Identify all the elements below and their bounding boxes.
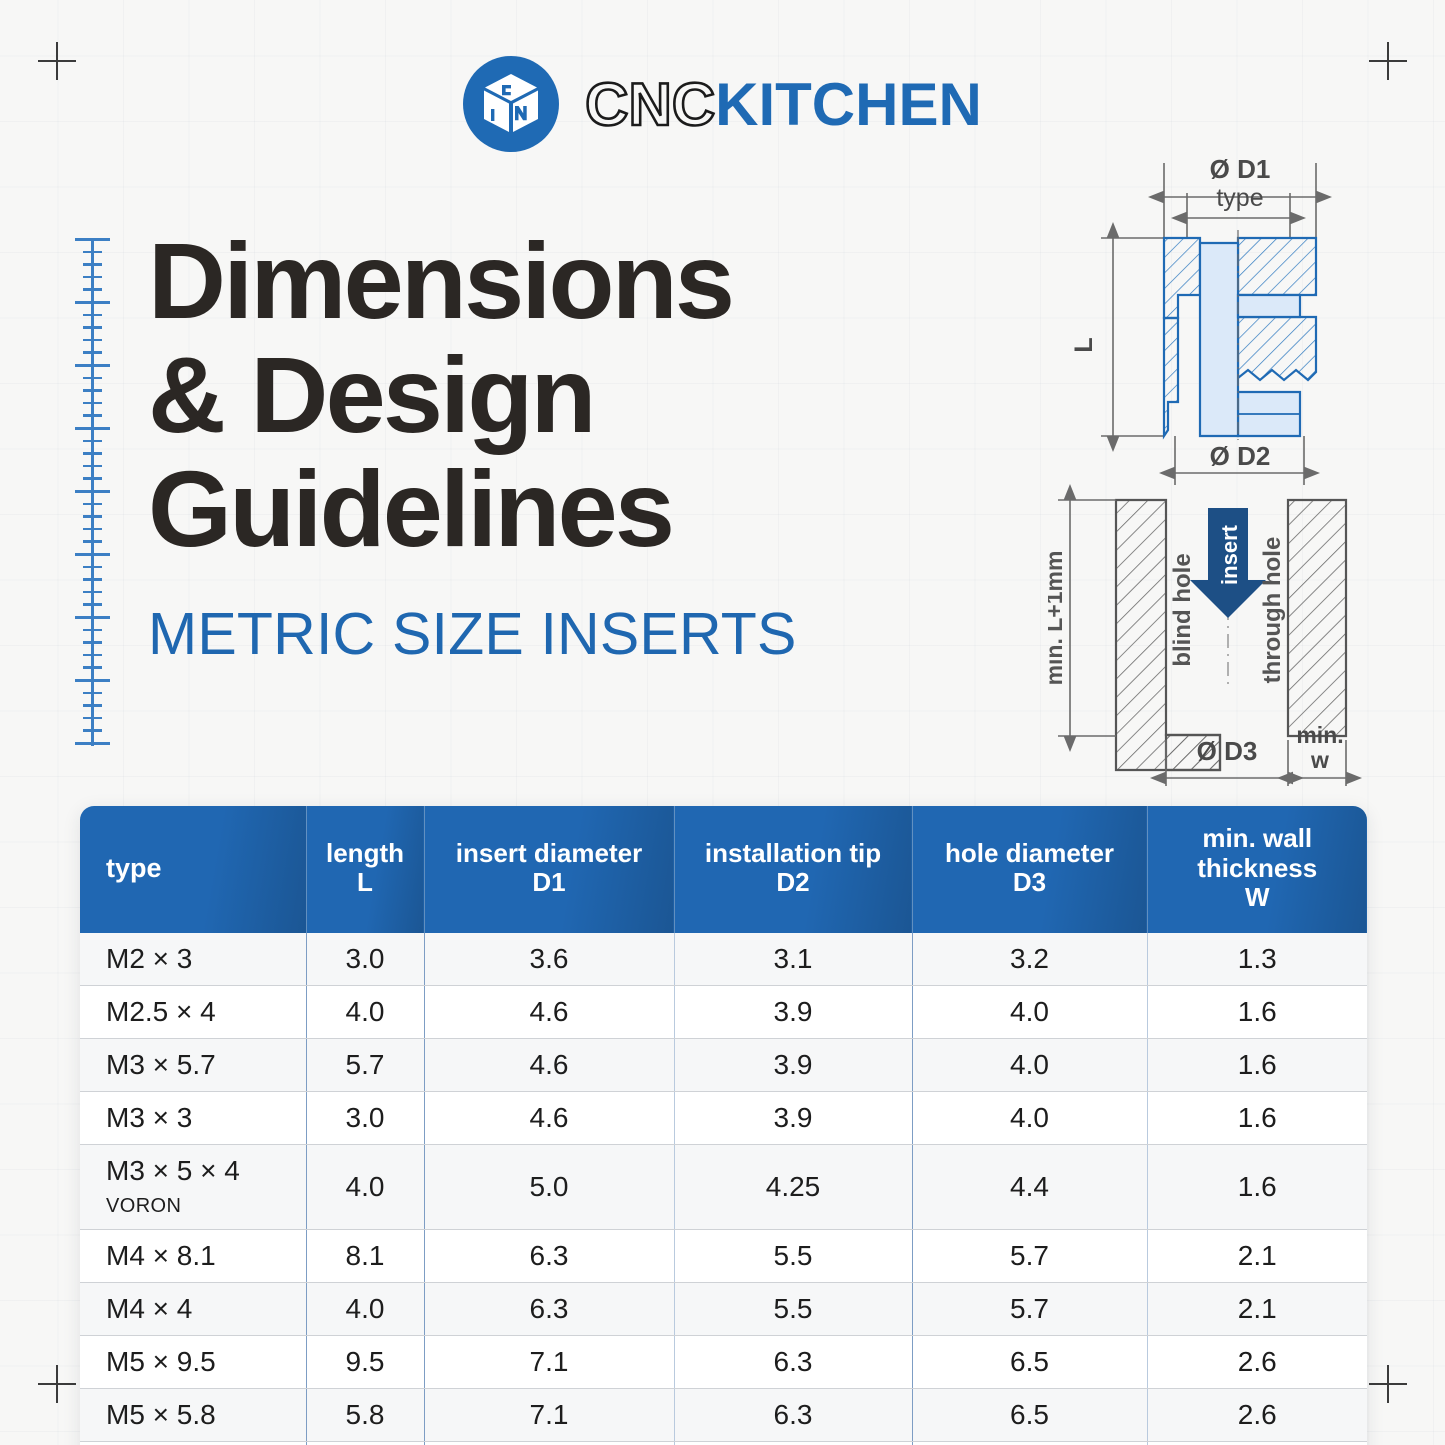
cell-d3: 4.0 [912, 985, 1147, 1038]
label-min-depth: min. L+1mm [1048, 551, 1067, 686]
cell-l: 4.0 [306, 985, 424, 1038]
table-row: M2.5 × 44.04.63.94.01.6 [80, 985, 1367, 1038]
table-header-row: type length L insert diameter D1 install… [80, 806, 1367, 933]
cell-l: 5.8 [306, 1388, 424, 1441]
registration-crosshair-bottom-right [1369, 1365, 1407, 1403]
label-d2: Ø D2 [1210, 441, 1271, 471]
cell-w: 1.6 [1147, 985, 1367, 1038]
insert-type-label: M3 × 3 [106, 1102, 192, 1133]
cell-type: M5 × 9.5 [80, 1335, 306, 1388]
cell-d1: 6.3 [424, 1282, 674, 1335]
table-row: M3 × 5.75.74.63.94.01.6 [80, 1038, 1367, 1091]
cell-d2: 7.9 [674, 1441, 912, 1445]
column-header-hole-diameter-title: hole diameter [945, 838, 1114, 868]
cell-d2: 3.9 [674, 1038, 912, 1091]
cell-type: M3 × 3 [80, 1091, 306, 1144]
insert-type-label: M3 × 5.7 [106, 1049, 216, 1080]
cell-d2: 6.3 [674, 1335, 912, 1388]
cell-d2: 3.1 [674, 933, 912, 986]
brand-header: CNC KITCHEN [0, 56, 1445, 152]
decorative-ruler-scale: (function(){ var host = document.getElem… [74, 238, 110, 746]
cell-d1: 4.6 [424, 1038, 674, 1091]
table-row: M5 × 9.59.57.16.36.52.6 [80, 1335, 1367, 1388]
table-row: M5 × 5.85.87.16.36.52.6 [80, 1388, 1367, 1441]
cell-d3: 8.1 [912, 1441, 1147, 1445]
datasheet-page: CNC KITCHEN (function(){ var host = docu… [0, 0, 1445, 1445]
cell-d3: 3.2 [912, 933, 1147, 986]
cell-d1: 8.7 [424, 1441, 674, 1445]
brand-name-kitchen: KITCHEN [715, 70, 982, 139]
cell-w: 2.6 [1147, 1388, 1367, 1441]
hero-block: Dimensions & Design Guidelines METRIC SI… [148, 224, 948, 668]
cell-d3: 6.5 [912, 1335, 1147, 1388]
table-row: M2 × 33.03.63.13.21.3 [80, 933, 1367, 986]
registration-crosshair-bottom-left [38, 1365, 76, 1403]
brand-name-cnc: CNC [585, 70, 715, 139]
cell-d2: 3.9 [674, 1091, 912, 1144]
page-subtitle: METRIC SIZE INSERTS [148, 600, 948, 668]
table-body: M2 × 33.03.63.13.21.3M2.5 × 44.04.63.94.… [80, 933, 1367, 1445]
label-min: min. [1296, 722, 1343, 748]
cell-d1: 6.3 [424, 1229, 674, 1282]
cell-d1: 4.6 [424, 1091, 674, 1144]
cell-l: 9.5 [306, 1335, 424, 1388]
cell-w: 2.1 [1147, 1229, 1367, 1282]
cell-d2: 5.5 [674, 1282, 912, 1335]
cell-w: 1.6 [1147, 1038, 1367, 1091]
column-header-insert-diameter-title: insert diameter [456, 838, 642, 868]
column-header-length-title: length [326, 838, 404, 868]
label-type: type [1216, 184, 1263, 212]
column-header-insert-diameter: insert diameter D1 [424, 806, 674, 933]
cell-l: 3.0 [306, 933, 424, 986]
label-l: L [1070, 337, 1098, 352]
label-d1: Ø D1 [1210, 154, 1271, 184]
column-header-installation-tip: installation tip D2 [674, 806, 912, 933]
column-header-type: type [80, 806, 306, 933]
insert-type-label: M4 × 4 [106, 1293, 192, 1324]
column-header-length: length L [306, 806, 424, 933]
table-row: M3 × 33.04.63.94.01.6 [80, 1091, 1367, 1144]
cell-w: 2.6 [1147, 1335, 1367, 1388]
page-title: Dimensions & Design Guidelines [148, 224, 948, 566]
column-header-type-title: type [106, 853, 162, 883]
cell-w: 1.6 [1147, 1144, 1367, 1229]
cell-d3: 5.7 [912, 1229, 1147, 1282]
label-blind-hole: blind hole [1169, 553, 1196, 666]
cell-d2: 4.25 [674, 1144, 912, 1229]
cell-l: 5.7 [306, 1038, 424, 1091]
table-row: M6 × 12.712.78.77.98.13.3 [80, 1441, 1367, 1445]
column-header-min-wall-thickness: min. wall thickness W [1147, 806, 1367, 933]
cell-d2: 5.5 [674, 1229, 912, 1282]
cell-d1: 3.6 [424, 933, 674, 986]
table-row: M4 × 8.18.16.35.55.72.1 [80, 1229, 1367, 1282]
cell-type: M3 × 5.7 [80, 1038, 306, 1091]
cell-w: 1.3 [1147, 933, 1367, 986]
cell-l: 4.0 [306, 1144, 424, 1229]
column-header-installation-tip-title: installation tip [705, 838, 881, 868]
column-header-hole-diameter-symbol: D3 [919, 868, 1141, 898]
cell-type: M3 × 5 × 4 VORON [80, 1144, 306, 1229]
column-header-installation-tip-symbol: D2 [681, 868, 906, 898]
cell-type: M2 × 3 [80, 933, 306, 986]
insert-type-variant-badge: VORON [106, 1195, 181, 1217]
cell-d1: 4.6 [424, 985, 674, 1038]
cell-w: 3.3 [1147, 1441, 1367, 1445]
insert-type-label: M3 × 5 × 4 [106, 1155, 240, 1186]
title-line-2: & Design [148, 338, 948, 452]
insert-type-label: M2 × 3 [106, 943, 192, 974]
column-header-insert-diameter-symbol: D1 [431, 868, 668, 898]
column-header-hole-diameter: hole diameter D3 [912, 806, 1147, 933]
insert-type-label: M5 × 9.5 [106, 1346, 216, 1377]
technical-drawings: Ø D1 type L Ø D2 min. L+1mm [1048, 140, 1408, 790]
table-row: M4 × 44.06.35.55.72.1 [80, 1282, 1367, 1335]
cell-d3: 4.4 [912, 1144, 1147, 1229]
label-d3: Ø D3 [1197, 736, 1258, 766]
column-header-length-symbol: L [313, 868, 418, 898]
cell-d1: 7.1 [424, 1335, 674, 1388]
cell-l: 12.7 [306, 1441, 424, 1445]
cell-type: M5 × 5.8 [80, 1388, 306, 1441]
cell-d3: 4.0 [912, 1091, 1147, 1144]
cell-l: 4.0 [306, 1282, 424, 1335]
title-line-3: Guidelines [148, 452, 948, 566]
cell-w: 1.6 [1147, 1091, 1367, 1144]
insert-type-label: M2.5 × 4 [106, 996, 216, 1027]
cell-d3: 4.0 [912, 1038, 1147, 1091]
cell-type: M2.5 × 4 [80, 985, 306, 1038]
title-line-1: Dimensions [148, 224, 948, 338]
column-header-min-wall-thickness-symbol: W [1154, 883, 1362, 913]
column-header-min-wall-thickness-title: min. wall thickness [1197, 823, 1317, 883]
cnc-kitchen-cube-logo-icon [463, 56, 559, 152]
label-through-hole: through hole [1259, 537, 1286, 684]
cell-d3: 5.7 [912, 1282, 1147, 1335]
cell-l: 8.1 [306, 1229, 424, 1282]
cell-d2: 6.3 [674, 1388, 912, 1441]
label-w: w [1310, 747, 1329, 773]
table-row: M3 × 5 × 4 VORON4.05.04.254.41.6 [80, 1144, 1367, 1229]
cell-type: M4 × 8.1 [80, 1229, 306, 1282]
dimensions-table: type length L insert diameter D1 install… [80, 806, 1367, 1445]
insert-type-label: M5 × 5.8 [106, 1399, 216, 1430]
cell-w: 2.1 [1147, 1282, 1367, 1335]
cell-d1: 5.0 [424, 1144, 674, 1229]
brand-wordmark: CNC KITCHEN [585, 70, 982, 139]
cell-type: M4 × 4 [80, 1282, 306, 1335]
cell-d2: 3.9 [674, 985, 912, 1038]
cell-l: 3.0 [306, 1091, 424, 1144]
cell-d1: 7.1 [424, 1388, 674, 1441]
cell-d3: 6.5 [912, 1388, 1147, 1441]
cell-type: M6 × 12.7 [80, 1441, 306, 1445]
insert-type-label: M4 × 8.1 [106, 1240, 216, 1271]
dimensions-table-card: type length L insert diameter D1 install… [80, 806, 1367, 1445]
label-insert: insert [1217, 524, 1242, 585]
